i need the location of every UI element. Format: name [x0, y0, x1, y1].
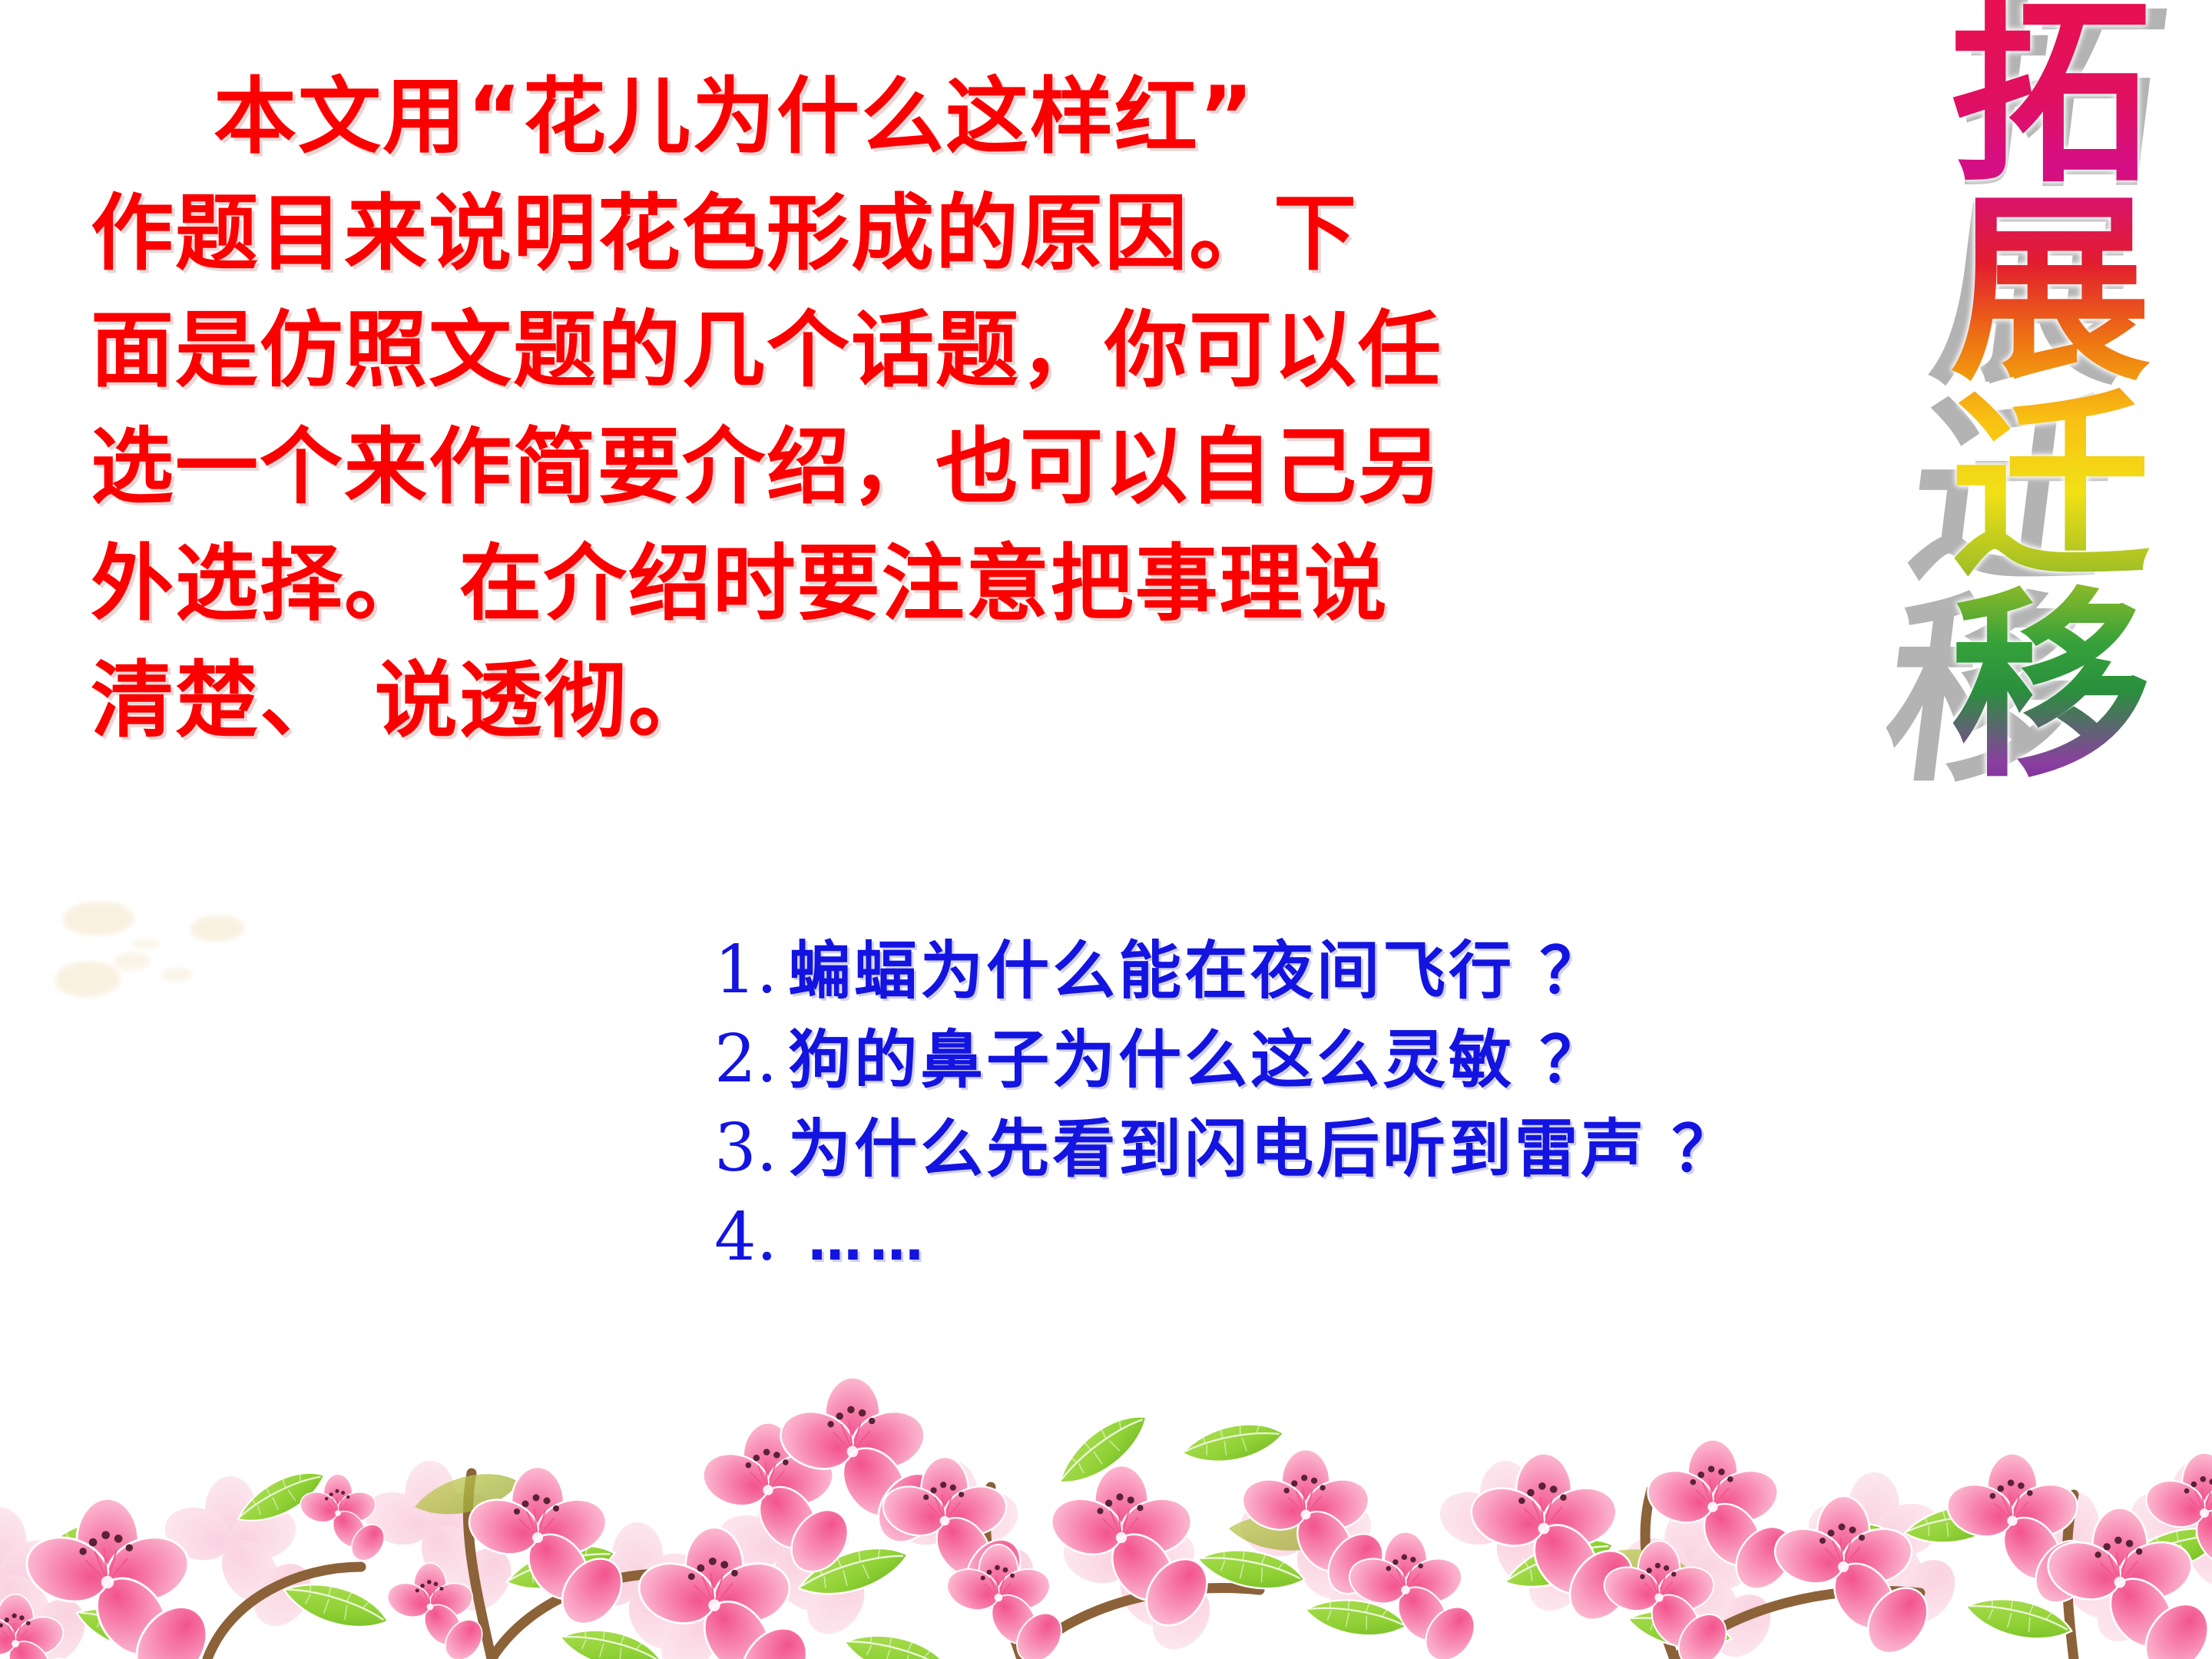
list-item: 3. 为什么先看到闪电后听到雷声 ？ — [714, 1111, 1738, 1187]
watermark-decoration — [46, 876, 276, 1022]
body-line-4: 选一个来作简要介绍，也可以自己另 — [91, 421, 1873, 515]
vertical-title: 拓 展 迁 移 拓 展 迁 移 — [1897, 0, 2204, 777]
body-line-1: 本文用“花儿为什么这样红” — [91, 71, 1873, 164]
list-item-number: 4. — [714, 1200, 777, 1274]
watermark-blob — [132, 939, 160, 949]
list-item-number: 2. — [714, 1022, 777, 1096]
list-item-text: 为什么先看到闪电后听到雷声 ？ — [788, 1113, 1738, 1187]
title-char-4: 移 — [1950, 588, 2151, 786]
vertical-title-text: 拓 展 迁 移 — [1897, 0, 2204, 786]
watermark-blob — [190, 916, 244, 942]
watermark-blob — [161, 968, 192, 982]
list-item-text: …… — [788, 1204, 931, 1278]
list-item-number: 3. — [714, 1111, 777, 1185]
list-item-text: 蝙蝠为什么能在夜间飞行 ？ — [788, 935, 1606, 1008]
title-char-1: 拓 — [1950, 0, 2151, 192]
body-line-6: 清楚、 说透彻。 — [91, 654, 1873, 748]
list-item: 1. 蝙蝠为什么能在夜间飞行 ？ — [714, 933, 1738, 1008]
floral-border-decoration — [0, 1336, 2212, 1659]
watermark-blob — [114, 952, 151, 971]
floral-border-svg — [0, 1336, 2212, 1659]
list-item-text: 狗的鼻子为什么这么灵敏 ？ — [788, 1024, 1606, 1098]
body-line-2: 作题目来说明花色形成的原因。下 — [91, 187, 1873, 281]
list-item-number: 1. — [714, 933, 777, 1007]
body-paragraph: 本文用“花儿为什么这样红” 作题目来说明花色形成的原因。下 面是仿照文题的几个话… — [91, 71, 1873, 771]
body-line-5: 外选择。 在介绍时要注意把事理说 — [91, 538, 1873, 631]
watermark-blob — [55, 962, 120, 997]
body-line-3: 面是仿照文题的几个话题，你可以任 — [91, 304, 1873, 398]
title-char-2: 展 — [1950, 192, 2151, 390]
watermark-blob — [63, 902, 134, 935]
question-list: 1. 蝙蝠为什么能在夜间飞行 ？ 2. 狗的鼻子为什么这么灵敏 ？ 3. 为什么… — [714, 933, 1738, 1292]
list-item: 2. 狗的鼻子为什么这么灵敏 ？ — [714, 1022, 1738, 1098]
title-char-3: 迁 — [1950, 390, 2151, 588]
list-item: 4. …… — [714, 1200, 1738, 1278]
